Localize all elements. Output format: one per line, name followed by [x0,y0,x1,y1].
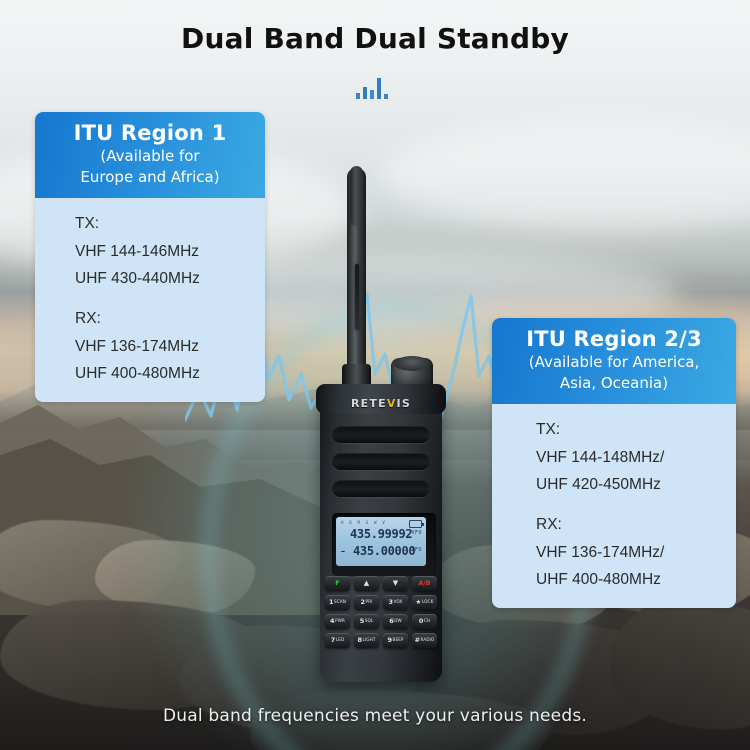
key-main-label: F [335,580,339,587]
key-sub-label: LED [336,638,345,642]
key-6-dw[interactable]: 6DW [383,614,408,629]
key-main-label: A/B [418,580,430,587]
key-7-led[interactable]: 7LED [325,633,350,648]
lcd-frequency-top: 435.99992 [350,527,412,541]
lcd-display: H D M S W V 435.99992 VFO ➡ 435.00000 VF… [336,517,426,566]
brand-text-part2: IS [397,397,411,410]
speaker-grille-slot [332,480,430,497]
tx-line-2: UHF 430-440MHz [35,265,265,293]
volume-knob-top[interactable] [394,356,430,371]
brand-text-part1: RETE [351,397,387,410]
card-header: ITU Region 1 (Available for Europe and A… [35,112,265,198]
keypad-row-1: 1SCAN 2PRI 3VOX ★LOCK [324,595,438,610]
key-3-vox[interactable]: 3VOX [383,595,408,610]
key-sub-label: PWR [335,619,345,623]
spacer [35,293,265,305]
key-sub-label: LIGHT [363,638,376,642]
walkie-talkie-radio: RETEVIS H D M S W V 435.99992 VFO ➡ 435.… [306,168,456,688]
rx-label: RX: [35,305,265,333]
page-title: Dual Band Dual Standby [0,22,750,55]
key-main-label: 1 [329,599,334,606]
rx-line-2: UHF 400-480MHz [35,360,265,388]
brand-check-v: V [387,397,397,410]
product-infographic: Dual Band Dual Standby ITU Region 1 (Ava… [0,0,750,750]
rx-label: RX: [492,511,736,539]
lcd-active-arrow-icon: ➡ [341,548,345,556]
tx-line-1: VHF 144-146MHz [35,238,265,266]
key-a-b[interactable]: A/B [412,576,437,591]
card-subheading-line1: (Available for America, [500,353,728,372]
lcd-status-line: H D M S W V [341,520,386,525]
key-main-label: 4 [330,618,335,625]
lcd-vfo-bottom: VFO [411,547,422,553]
key-hash-radio[interactable]: #RADIO [412,633,437,648]
key-9-beep[interactable]: 9BEEP [383,633,408,648]
card-header: ITU Region 2/3 (Available for America, A… [492,318,736,404]
card-body: TX: VHF 144-148MHz/ UHF 420-450MHz RX: V… [492,404,736,608]
bottom-caption: Dual band frequencies meet your various … [0,706,750,726]
key-5-sql[interactable]: 5SQL [354,614,379,629]
key-main-label: 2 [360,599,365,606]
lcd-frequency-bottom: 435.00000 [353,544,415,558]
rx-line-1: VHF 136-174MHz/ [492,539,736,567]
key-main-label: ▼ [393,580,398,587]
spacer [492,499,736,511]
key-sub-label: VOX [394,600,403,604]
lcd-vfo-top: VFO [411,530,422,536]
key-star-lock[interactable]: ★LOCK [412,595,437,610]
key-main-label: 5 [360,618,365,625]
key-1-scan[interactable]: 1SCAN [325,595,350,610]
key-main-label: 9 [387,637,392,644]
speaker-grille-slot [332,453,430,470]
key-down[interactable]: ▼ [383,576,408,591]
key-main-label: 7 [331,637,336,644]
tx-line-1: VHF 144-148MHz/ [492,444,736,472]
key-function[interactable]: F [325,576,350,591]
antenna-tip [350,166,363,226]
key-sub-label: SCAN [334,600,346,604]
key-sub-label: PRI [366,600,373,604]
key-sub-label: DW [394,619,402,623]
key-up[interactable]: ▲ [354,576,379,591]
key-main-label: ▲ [364,580,369,587]
keypad-row-2: 4PWR 5SQL 6DW 0CH [324,614,438,629]
key-main-label: # [415,637,420,644]
card-body: TX: VHF 144-146MHz UHF 430-440MHz RX: VH… [35,198,265,402]
rx-line-1: VHF 136-174MHz [35,333,265,361]
card-subheading-line1: (Available for [43,147,257,166]
key-main-label: ★ [416,599,422,606]
key-main-label: 0 [419,618,424,625]
speaker-grille-slot [332,426,430,443]
card-heading: ITU Region 2/3 [500,327,728,351]
key-main-label: 3 [388,599,393,606]
key-main-label: 6 [389,618,394,625]
antenna-slot [355,264,359,330]
signal-bars-icon [355,74,395,100]
key-4-pwr[interactable]: 4PWR [325,614,350,629]
keypad-row-3: 7LED 8LIGHT 9BEEP #RADIO [324,633,438,648]
tx-label: TX: [35,210,265,238]
itu-region-1-card: ITU Region 1 (Available for Europe and A… [35,112,265,402]
keypad[interactable]: F ▲ ▼ A/B 1SCAN 2PRI 3VOX ★LOCK 4PWR 5SQ… [324,576,438,652]
rx-line-2: UHF 400-480MHz [492,566,736,594]
key-2-pri[interactable]: 2PRI [354,595,379,610]
tx-label: TX: [492,416,736,444]
key-sub-label: CH [424,619,430,623]
card-subheading-line2: Asia, Oceania) [500,374,728,393]
key-main-label: 8 [357,637,362,644]
key-sub-label: SQL [365,619,374,623]
key-sub-label: RADIO [421,638,435,642]
key-8-light[interactable]: 8LIGHT [354,633,379,648]
key-sub-label: LOCK [422,600,434,604]
tx-line-2: UHF 420-450MHz [492,471,736,499]
brand-logo: RETEVIS [320,397,442,410]
itu-region-2-3-card: ITU Region 2/3 (Available for America, A… [492,318,736,608]
key-sub-label: BEEP [392,638,403,642]
card-heading: ITU Region 1 [43,121,257,145]
key-0-ch[interactable]: 0CH [412,614,437,629]
card-subheading-line2: Europe and Africa) [43,168,257,187]
keypad-row-function: F ▲ ▼ A/B [324,576,438,591]
